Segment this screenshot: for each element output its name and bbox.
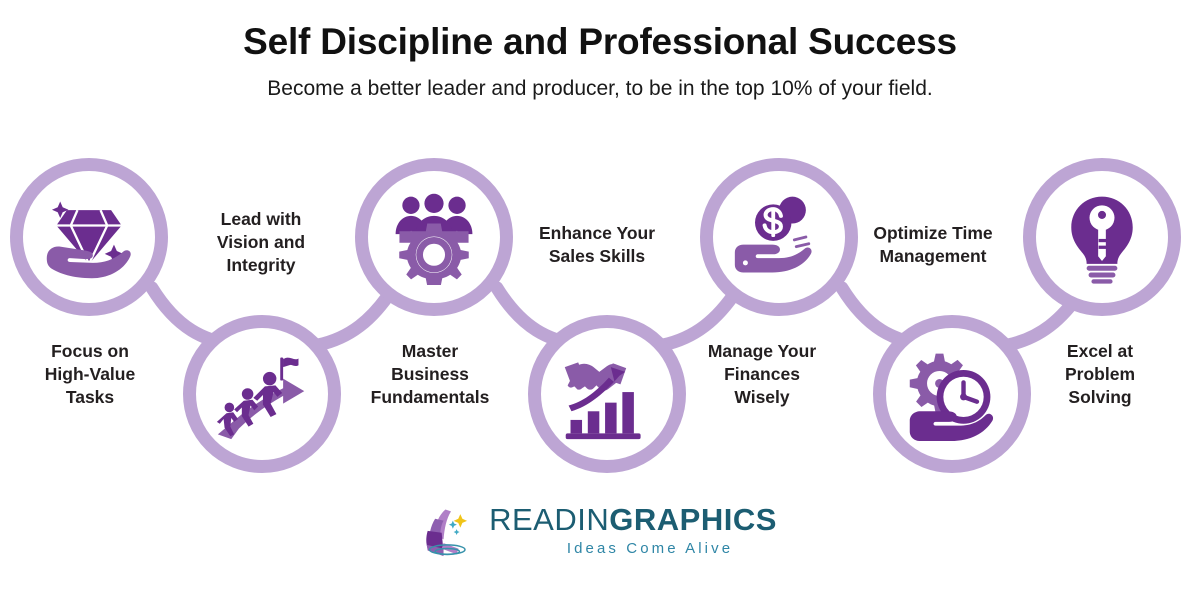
connector-4-5 (663, 290, 737, 345)
handshake-growth-chart-icon (559, 346, 655, 442)
step-node-6[interactable] (873, 315, 1031, 473)
diamond-in-hand-icon (41, 189, 137, 285)
page-subtitle: Become a better leader and producer, to … (0, 77, 1200, 101)
label-line: Enhance Your (522, 222, 672, 245)
label-line: Finances (687, 363, 837, 386)
people-gear-icon (386, 189, 482, 285)
step-label-5: Manage Your Finances Wisely (687, 340, 837, 408)
money-in-hand-icon (731, 189, 827, 285)
label-line: High-Value (15, 363, 165, 386)
step-label-1: Focus on High-Value Tasks (15, 340, 165, 408)
label-line: Tasks (15, 386, 165, 409)
step-label-4: Enhance Your Sales Skills (522, 222, 672, 268)
label-line: Integrity (186, 254, 336, 277)
step-node-3[interactable] (355, 158, 513, 316)
step-node-5[interactable] (700, 158, 858, 316)
label-line: Vision and (186, 231, 336, 254)
label-line: Manage Your (687, 340, 837, 363)
header: Self Discipline and Professional Success… (0, 0, 1200, 101)
step-label-2: Lead with Vision and Integrity (186, 208, 336, 276)
label-line: Management (858, 245, 1008, 268)
logo-wordmark: READINGRAPHICS Ideas Come Alive (489, 504, 777, 557)
infographic-root: Self Discipline and Professional Success… (0, 0, 1200, 600)
step-node-7[interactable] (1023, 158, 1181, 316)
label-line: Sales Skills (522, 245, 672, 268)
open-book-logo-icon (423, 502, 479, 558)
step-label-6: Optimize Time Management (858, 222, 1008, 268)
lightbulb-key-icon (1054, 189, 1150, 285)
label-line: Wisely (687, 386, 837, 409)
team-climbing-arrow-flag-icon (214, 346, 310, 442)
label-line: Solving (1025, 386, 1175, 409)
label-line: Excel at (1025, 340, 1175, 363)
logo-tagline: Ideas Come Alive (533, 540, 733, 557)
step-node-4[interactable] (528, 315, 686, 473)
label-line: Fundamentals (355, 386, 505, 409)
label-line: Focus on (15, 340, 165, 363)
label-line: Lead with (186, 208, 336, 231)
label-line: Optimize Time (858, 222, 1008, 245)
logo-name-bold: GRAPHICS (609, 502, 777, 537)
gear-clock-in-hand-icon (904, 346, 1000, 442)
step-label-3: Master Business Fundamentals (355, 340, 505, 408)
label-line: Business (355, 363, 505, 386)
label-line: Master (355, 340, 505, 363)
label-line: Problem (1025, 363, 1175, 386)
page-title: Self Discipline and Professional Success (0, 22, 1200, 63)
brand-logo[interactable]: READINGRAPHICS Ideas Come Alive (0, 495, 1200, 565)
logo-name-light: READIN (489, 502, 609, 537)
logo-name: READINGRAPHICS (489, 504, 777, 535)
step-node-2[interactable] (183, 315, 341, 473)
step-node-1[interactable] (10, 158, 168, 316)
step-label-7: Excel at Problem Solving (1025, 340, 1175, 408)
connector-2-3 (318, 290, 392, 345)
